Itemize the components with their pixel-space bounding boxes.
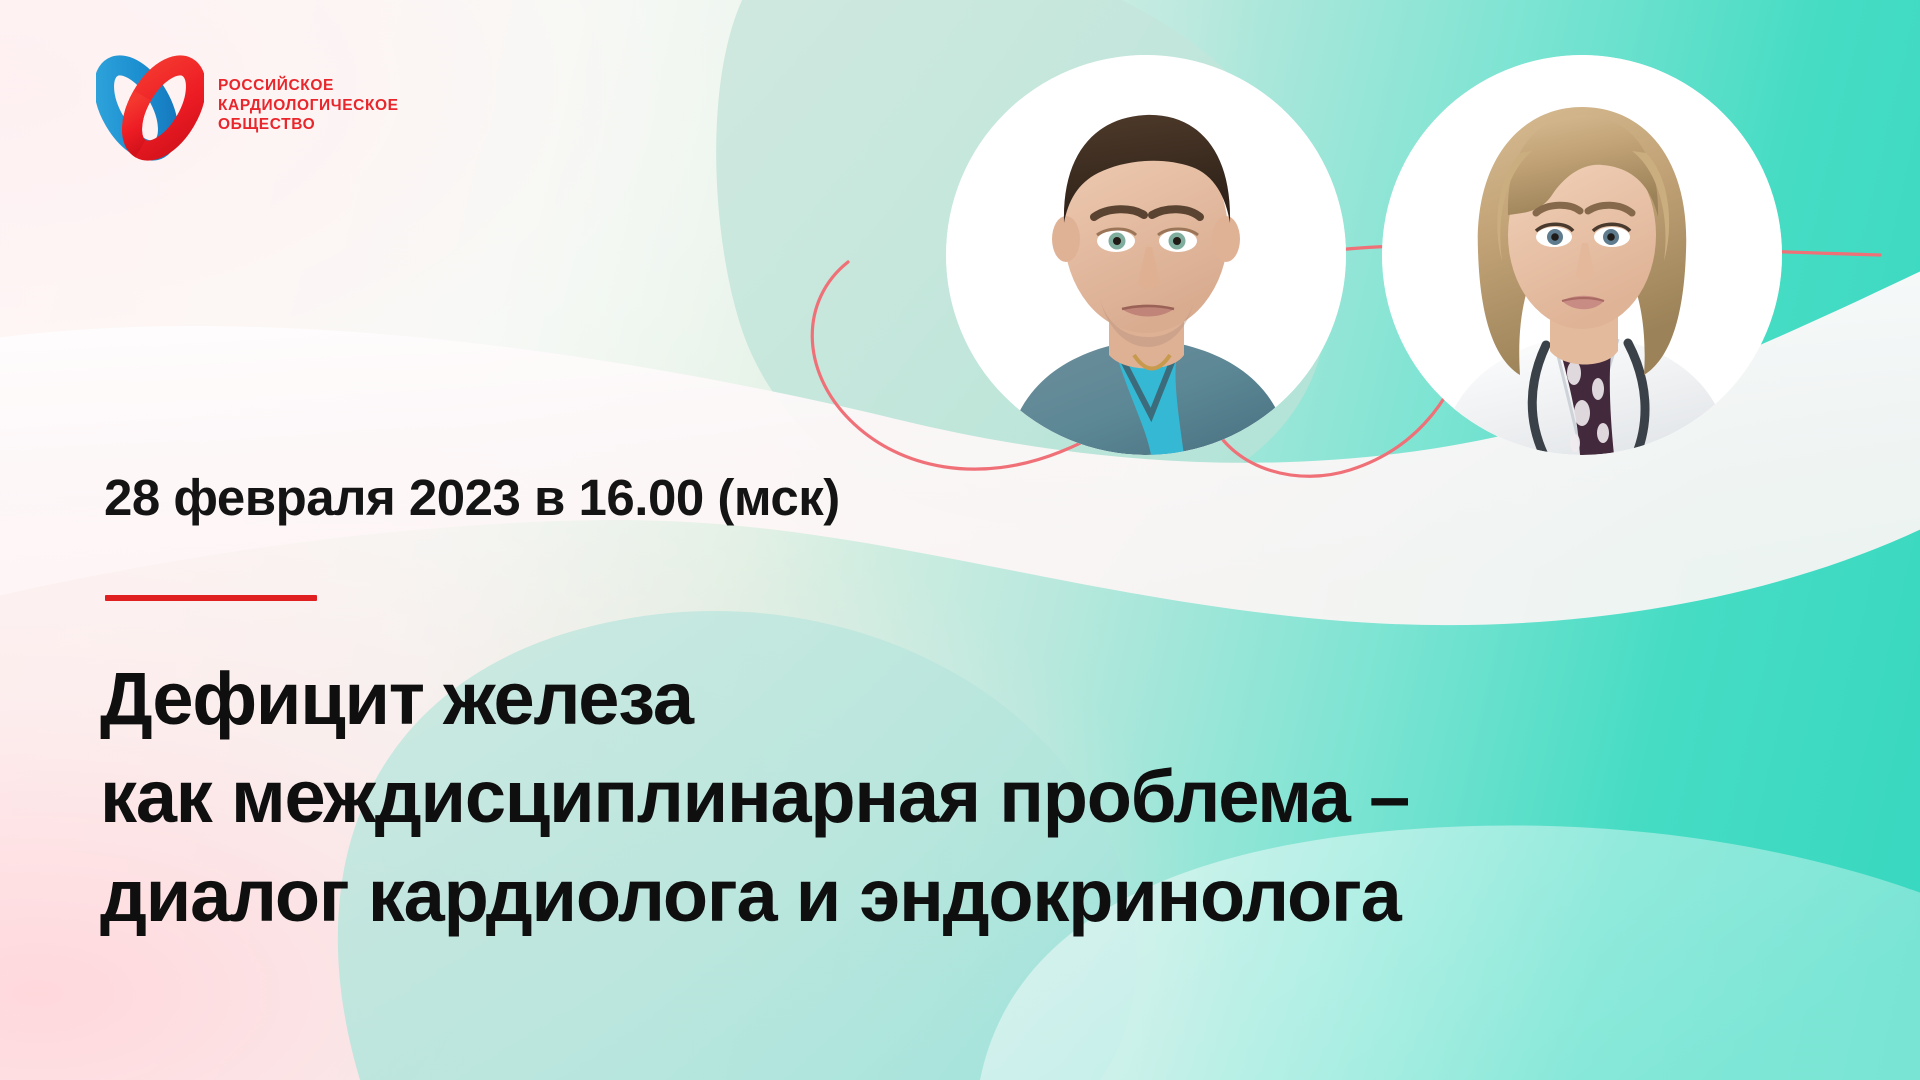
- organization-name: РОССИЙСКОЕ КАРДИОЛОГИЧЕСКОЕ ОБЩЕСТВО: [218, 76, 418, 135]
- speaker-portrait-2: [1382, 55, 1782, 455]
- organization-name-line-3: ОБЩЕСТВО: [218, 115, 418, 135]
- event-title-line-3: диалог кардиолога и эндокринолога: [100, 847, 1740, 945]
- organization-logo: РОССИЙСКОЕ КАРДИОЛОГИЧЕСКОЕ ОБЩЕСТВО: [96, 52, 386, 170]
- event-date-time: 28 февраля 2023 в 16.00 (мск): [104, 468, 840, 527]
- webinar-announcement-banner: РОССИЙСКОЕ КАРДИОЛОГИЧЕСКОЕ ОБЩЕСТВО: [0, 0, 1920, 1080]
- event-title: Дефицит железа как междисциплинарная про…: [100, 650, 1740, 945]
- accent-divider: [105, 595, 317, 601]
- female-doctor-portrait-icon: [1382, 55, 1782, 455]
- interlocking-hearts-logo-icon: [96, 52, 204, 164]
- speaker-portrait-1: [946, 55, 1346, 455]
- organization-name-line-1: РОССИЙСКОЕ: [218, 76, 418, 96]
- organization-name-line-2: КАРДИОЛОГИЧЕСКОЕ: [218, 96, 418, 116]
- event-title-line-1: Дефицит железа: [100, 650, 1740, 748]
- event-title-line-2: как междисциплинарная проблема –: [100, 748, 1740, 846]
- male-speaker-portrait-icon: [946, 55, 1346, 455]
